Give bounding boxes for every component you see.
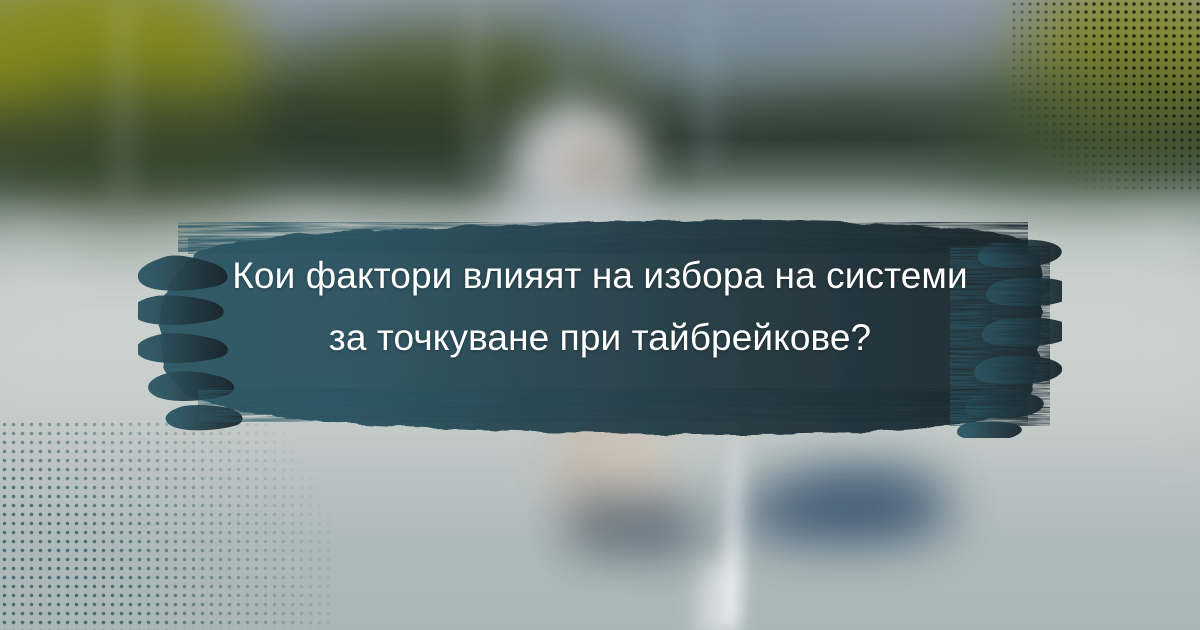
headline-line-2: за точкуване при тайбрейкове? (329, 310, 871, 366)
social-share-card: Кои фактори влияят на избора на системи … (0, 0, 1200, 630)
background-ground-shadow-2 (790, 470, 940, 514)
headline: Кои фактори влияят на избора на системи … (138, 176, 1062, 438)
background-fence-post (118, 0, 128, 200)
background-fence-post (700, 0, 714, 175)
background-person-shoe-left (572, 505, 626, 539)
background-person-shoe-right (628, 508, 684, 542)
headline-line-1: Кои фактори влияят на избора на системи (232, 248, 967, 304)
background-court-line-2 (697, 559, 727, 630)
background-fence-post (470, 0, 479, 185)
